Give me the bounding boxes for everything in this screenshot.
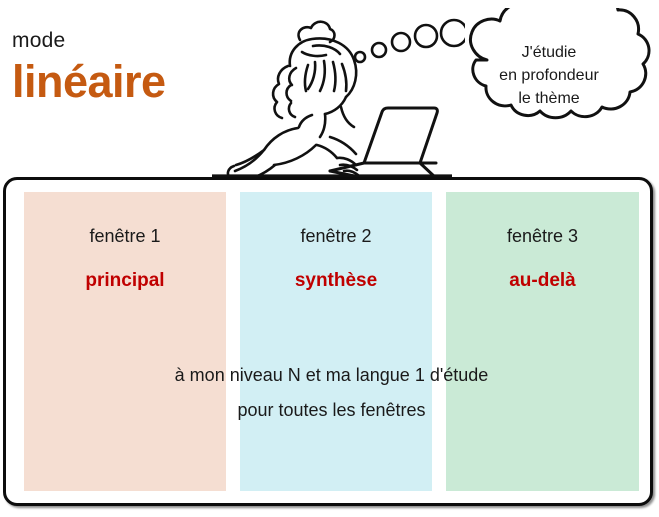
mode-value: linéaire (12, 56, 232, 108)
window-3-value: au-delà (446, 269, 639, 293)
thought-bubble-text: J'étudie en profondeur le thème (443, 8, 655, 138)
panel-caption: à mon niveau N et ma langue 1 d'étude po… (24, 358, 639, 428)
window-3-header: fenêtre 3 (446, 225, 639, 247)
bubble-line-3: le thème (518, 87, 579, 110)
windows-panel: fenêtre 1 principal fenêtre 2 synthèse f… (3, 177, 653, 506)
window-columns: fenêtre 1 principal fenêtre 2 synthèse f… (6, 180, 650, 503)
window-column-1[interactable]: fenêtre 1 principal (24, 192, 226, 491)
window-2-header: fenêtre 2 (240, 225, 432, 247)
window-2-value: synthèse (240, 269, 432, 293)
window-column-3[interactable]: fenêtre 3 au-delà (446, 192, 639, 491)
header-area: mode linéaire (0, 0, 659, 178)
bubble-line-1: J'étudie (522, 41, 577, 64)
window-1-value: principal (24, 269, 226, 293)
caption-line-2: pour toutes les fenêtres (24, 393, 639, 428)
title-block: mode linéaire (12, 28, 232, 108)
bubble-line-2: en profondeur (499, 64, 599, 87)
mode-label: mode (12, 28, 232, 54)
window-1-header: fenêtre 1 (24, 225, 226, 247)
caption-line-1: à mon niveau N et ma langue 1 d'étude (24, 358, 639, 393)
window-column-2[interactable]: fenêtre 2 synthèse (240, 192, 432, 491)
